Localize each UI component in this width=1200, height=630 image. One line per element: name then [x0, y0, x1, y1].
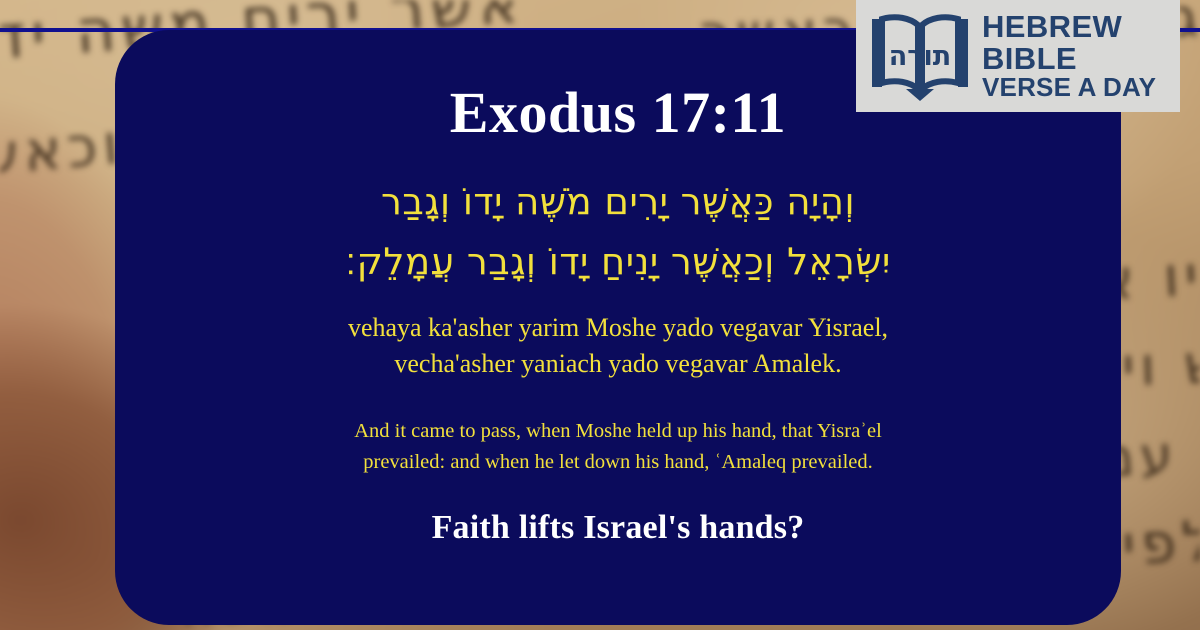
transliteration-line-1: vehaya ka'asher yarim Moshe yado vegavar…	[178, 310, 1058, 346]
transliteration-line-2: vecha'asher yaniach yado vegavar Amalek.	[178, 346, 1058, 382]
hebrew-line-2: יִשְׂרָאֵל וְכַאֲשֶׁר יָנִיחַ יָדוֹ וְגָ…	[138, 232, 1098, 292]
transliteration: vehaya ka'asher yarim Moshe yado vegavar…	[178, 310, 1058, 382]
translation-line-1: And it came to pass, when Moshe held up …	[178, 416, 1058, 448]
logo-hebrew-word: תורה	[889, 41, 952, 72]
open-book-icon: תורה	[868, 9, 972, 103]
translation-line-2: prevailed: and when he let down his hand…	[178, 447, 1058, 479]
tagline: Faith lifts Israel's hands?	[432, 509, 805, 547]
english-translation: And it came to pass, when Moshe held up …	[178, 416, 1058, 480]
verse-card: Exodus 17:11 וְהָיָה כַּאֲשֶׁר יָרִים מֹ…	[115, 30, 1121, 625]
brand-wordmark: HEBREW BIBLE VERSE A DAY	[982, 11, 1156, 101]
hebrew-verse: וְהָיָה כַּאֲשֶׁר יָרִים מֹשֶׁה יָדוֹ וְ…	[138, 172, 1098, 292]
brand-line-2: BIBLE	[982, 43, 1156, 75]
brand-line-1: HEBREW	[982, 11, 1156, 43]
verse-reference: Exodus 17:11	[450, 84, 786, 142]
brand-logo[interactable]: תורה HEBREW BIBLE VERSE A DAY	[856, 0, 1180, 112]
brand-line-3: VERSE A DAY	[982, 74, 1156, 101]
hebrew-line-1: וְהָיָה כַּאֲשֶׁר יָרִים מֹשֶׁה יָדוֹ וְ…	[138, 172, 1098, 232]
